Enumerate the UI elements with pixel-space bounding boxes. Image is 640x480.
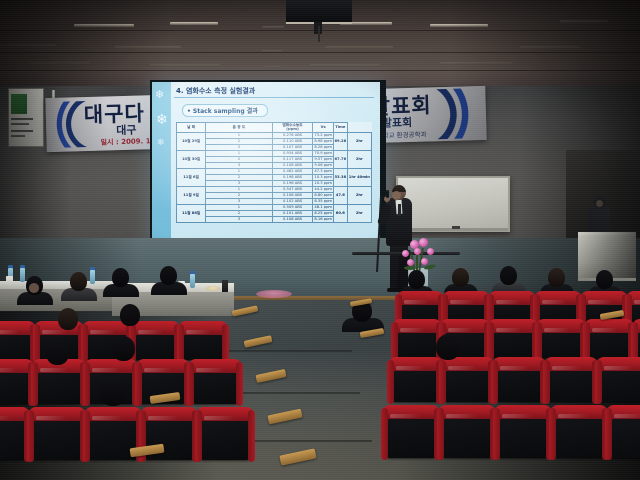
auditorium-seat[interactable] (636, 324, 640, 358)
seat-highlight (588, 300, 612, 304)
auditorium-seat[interactable] (444, 362, 490, 402)
seat-highlight (604, 366, 632, 370)
seat-highlight (448, 328, 473, 332)
table-header-cell: 흡 광 도 (206, 123, 272, 133)
table-cell-date: 11월 9일 (177, 187, 206, 205)
ceiling-edge-shadow (0, 0, 170, 92)
table-header-cell: 날 짜 (177, 123, 206, 133)
attendee-head (100, 378, 126, 406)
attendee-head (452, 268, 469, 287)
microphone-icon (386, 190, 389, 198)
auditorium-seat[interactable] (192, 364, 238, 404)
seat-highlight (186, 330, 211, 334)
orchid-bloom (421, 258, 428, 265)
orchid-bloom (419, 238, 428, 247)
table-cell-ppm: 8.16 ppm (313, 217, 333, 223)
seat-highlight (592, 328, 617, 332)
seat-highlight (148, 416, 178, 420)
seat-side (487, 322, 494, 360)
auditorium-seat[interactable] (0, 412, 26, 460)
attendee-head (596, 270, 613, 289)
presentation-slide: ❄ ❄ ❄ 4. 염화수소 측정 실험결과 • Stack sampling 결… (152, 82, 380, 250)
presenter-face (392, 191, 401, 200)
ceiling-edge-shadow (450, 0, 640, 92)
seat-highlight (404, 300, 428, 304)
auditorium-seat[interactable] (442, 410, 492, 458)
table-cell-date: 10월 29일 (177, 133, 206, 151)
auditorium-photo: 대구다 발표회 대구 발표회 일시 : 2009. 11. 20 대구대학교 환… (0, 0, 640, 480)
seat-side (31, 362, 38, 406)
table-cell-vs: 69.28 (333, 133, 347, 151)
whiteboard (396, 176, 510, 232)
table-cell-time: 1hr 40min (347, 169, 371, 187)
seat-side (83, 410, 90, 462)
bottle-cap (20, 265, 25, 268)
attendee-head (112, 268, 129, 287)
water-bottle (90, 270, 95, 284)
flower-stem (416, 252, 418, 272)
seat-highlight (196, 368, 224, 372)
auditorium-seat[interactable] (498, 410, 548, 458)
auditorium-seat[interactable] (36, 364, 82, 404)
table-cell-absorbance: 0.108 ABS (272, 217, 313, 223)
table-cell-time: 2hr (347, 187, 371, 205)
attendee-head (500, 266, 517, 285)
results-table: 날 짜흡 광 도염화수소농도(ppm)VsTime 10월 29일10.276 … (176, 122, 372, 223)
ceiling-light (170, 22, 218, 25)
seat-highlight (400, 328, 425, 332)
seat-side (595, 360, 602, 404)
seat-highlight (0, 330, 19, 334)
auditorium-seat[interactable] (548, 362, 594, 402)
seat-side (195, 410, 202, 462)
auditorium-seat[interactable] (386, 410, 436, 458)
seat-highlight (500, 366, 528, 370)
seat-highlight (496, 300, 520, 304)
seat-side (543, 360, 550, 404)
orchid-bloom (402, 250, 409, 257)
seat-side (236, 362, 243, 406)
seat-highlight (0, 368, 16, 372)
seat-highlight (450, 300, 474, 304)
table-cell-vs: 53.38 (333, 169, 347, 187)
seat-side (549, 408, 556, 460)
auditorium-seat[interactable] (554, 410, 604, 458)
seat-highlight (92, 368, 120, 372)
seat-side (439, 360, 446, 404)
snowflake-icon: ❄ (156, 112, 168, 128)
ceiling-light (325, 46, 393, 49)
refreshment-table (0, 281, 118, 289)
snack-plate (206, 286, 220, 291)
seat-highlight (92, 416, 122, 420)
seat-side (33, 324, 40, 362)
pink-cloth (256, 290, 292, 298)
seat-side (381, 408, 388, 460)
ceiling-light (310, 64, 380, 67)
ceiling-projector (286, 0, 352, 24)
seat-highlight (144, 368, 172, 372)
black-can (222, 280, 228, 292)
slide-side-band (152, 82, 171, 250)
seat-side (177, 324, 184, 362)
table-cell-time: 2hr (347, 133, 371, 151)
seat-side (491, 360, 498, 404)
seat-side (493, 408, 500, 460)
snowflake-icon: ❄ (157, 138, 165, 148)
auditorium-seat[interactable] (0, 364, 30, 404)
seat-highlight (544, 328, 569, 332)
table-cell-vs: 60.6 (333, 205, 347, 223)
orchid-bloom (414, 248, 421, 255)
auditorium-seat[interactable] (182, 326, 224, 360)
seat-side (583, 322, 590, 360)
table-header-cell: Time (333, 123, 347, 133)
slide-title-rule (174, 97, 374, 98)
water-bottle (190, 274, 195, 288)
seat-highlight (558, 414, 588, 418)
auditorium-seat[interactable] (200, 412, 250, 460)
seat-side (187, 362, 194, 406)
attendee-head (58, 308, 78, 330)
auditorium-seat[interactable] (600, 362, 640, 402)
ceiling-light (262, 26, 284, 28)
ceiling-light (262, 50, 282, 52)
seat-highlight (42, 330, 67, 334)
seat-highlight (138, 330, 163, 334)
attendee-face (29, 283, 39, 293)
auditorium-seat[interactable] (0, 326, 32, 360)
table-cell-time: 2hr (347, 151, 371, 169)
seat-highlight (396, 366, 424, 370)
seat-highlight (90, 330, 115, 334)
auditorium-seat[interactable] (392, 362, 438, 402)
seat-highlight (0, 416, 10, 420)
presenter-tie (398, 204, 401, 216)
orchid-bloom (407, 259, 414, 266)
seat-side (437, 408, 444, 460)
ceiling-light (264, 66, 282, 68)
paper-cup (6, 276, 13, 285)
seat-highlight (542, 300, 566, 304)
seat-highlight (448, 366, 476, 370)
slide-title: 4. 염화수소 측정 실험결과 (176, 86, 255, 96)
attendee-head (408, 270, 425, 289)
seat-highlight (446, 414, 476, 418)
seat-highlight (40, 368, 68, 372)
seat-highlight (552, 366, 580, 370)
seat-side (81, 324, 88, 362)
table-header-cell: 염화수소농도(ppm) (272, 123, 313, 133)
seat-side (631, 322, 638, 360)
table-header-row: 날 짜흡 광 도염화수소농도(ppm)VsTime (177, 123, 372, 133)
seat-side (605, 408, 612, 460)
seat-highlight (614, 414, 640, 418)
seat-side (248, 410, 255, 462)
auditorium-seat[interactable] (540, 324, 582, 358)
seat-side (391, 322, 398, 360)
seat-side (535, 322, 542, 360)
snowflake-icon: ❄ (155, 88, 164, 101)
attendee-head (160, 266, 177, 285)
attendee-head (436, 334, 460, 360)
orchid-bloom (427, 248, 434, 255)
attendee-head (120, 304, 140, 326)
podium-person-face (596, 200, 603, 207)
table-cell-vs: 47.6 (333, 187, 347, 205)
whiteboard-marker (452, 226, 460, 229)
attendee-head (112, 336, 135, 361)
seat-side (222, 324, 229, 362)
seat-side (135, 362, 142, 406)
table-cell-date: 11월 86일 (177, 205, 206, 223)
seat-highlight (390, 414, 420, 418)
auditorium-seat[interactable] (492, 324, 534, 358)
table-header-cell: Vs (313, 123, 333, 133)
seat-side (27, 410, 34, 462)
table-cell-date: 10월 30일 (177, 151, 206, 169)
seat-side (387, 360, 394, 404)
seat-highlight (204, 416, 234, 420)
seat-side (83, 362, 90, 406)
auditorium-seat[interactable] (496, 362, 542, 402)
table-cell-vs: 67.76 (333, 151, 347, 169)
auditorium-seat[interactable] (32, 412, 82, 460)
auditorium-seat[interactable] (134, 326, 176, 360)
seat-highlight (634, 300, 640, 304)
auditorium-seat[interactable] (396, 324, 438, 358)
auditorium-seat[interactable] (588, 324, 630, 358)
attendee-head (548, 268, 565, 287)
projector-stem (318, 26, 320, 42)
projection-screen: ❄ ❄ ❄ 4. 염화수소 측정 실험결과 • Stack sampling 결… (150, 80, 386, 256)
seat-highlight (502, 414, 532, 418)
seat-highlight (36, 416, 66, 420)
bottle-cap (90, 267, 95, 270)
auditorium-seat[interactable] (610, 410, 640, 458)
table-cell-date: 11월 6일 (177, 169, 206, 187)
seat-highlight (496, 328, 521, 332)
attendee-head (70, 272, 87, 291)
slide-bullet-text: • Stack sampling 결과 (187, 106, 258, 115)
water-bottle (20, 268, 25, 282)
bottle-cap (190, 271, 195, 274)
table-cell-sample-no: 3 (206, 217, 272, 223)
attendee-head (46, 340, 69, 365)
bottle-cap (8, 265, 13, 268)
table-cell-time: 2hr (347, 205, 371, 223)
